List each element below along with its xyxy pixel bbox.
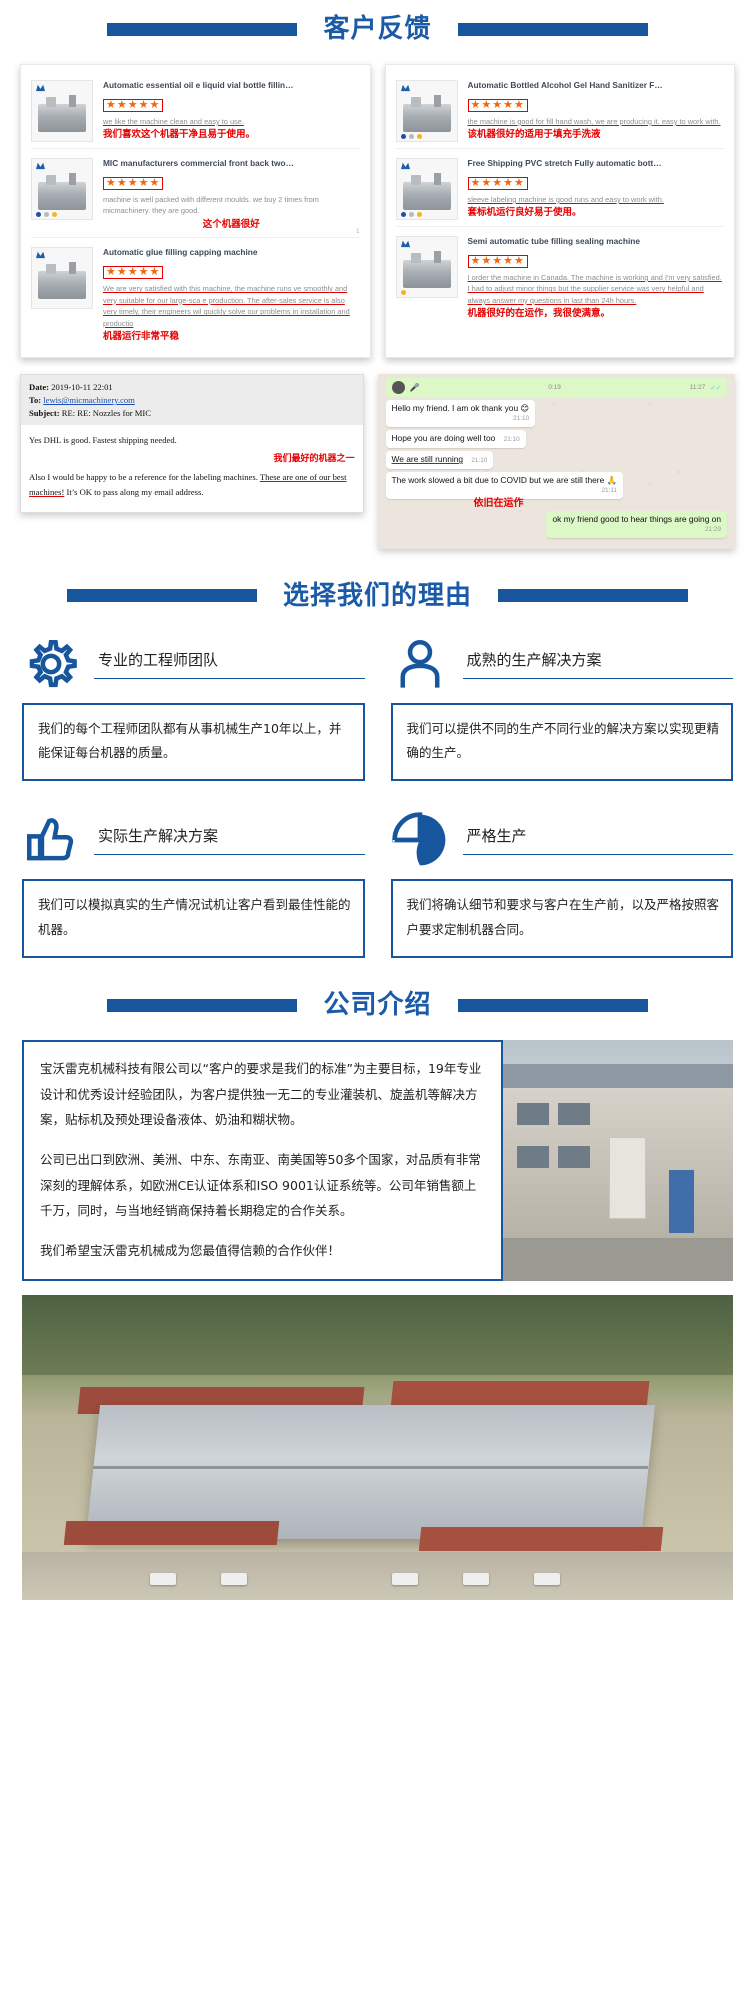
review-page-number[interactable]: 1 bbox=[356, 229, 359, 235]
star-icon: ★★★★★ bbox=[106, 99, 160, 111]
whatsapp-annotation-cn: 依旧在运作 bbox=[386, 494, 728, 509]
reason-body: 我们将确认细节和要求与客户在生产前，以及严格按照客户要求定制机器合同。 bbox=[391, 879, 734, 958]
chat-text: Hello my friend. I am ok thank you 😊 bbox=[392, 403, 530, 413]
review-body: MIC manufacturers commercial front back … bbox=[103, 158, 360, 231]
review-column-left: Automatic essential oil e liquid vial bo… bbox=[20, 64, 371, 358]
review-text-cn: 套标机运行良好易于使用。 bbox=[468, 207, 725, 219]
color-swatches bbox=[401, 134, 422, 139]
review-item: MIC manufacturers commercial front back … bbox=[31, 149, 360, 238]
aerial-factory-photo bbox=[22, 1295, 733, 1600]
machine-illustration bbox=[403, 182, 451, 210]
avatar bbox=[392, 381, 405, 394]
whatsapp-message-row: We are still running 21:10 bbox=[386, 451, 728, 469]
gear-icon bbox=[22, 635, 80, 693]
brand-logo-icon bbox=[400, 161, 411, 170]
page-title-reasons: 选择我们的理由 bbox=[257, 583, 498, 609]
reason-card-engineering-team: 专业的工程师团队 我们的每个工程师团队都有从事机械生产10年以上，并能保证每台机… bbox=[22, 635, 365, 782]
review-body: Automatic Bottled Alcohol Gel Hand Sanit… bbox=[468, 80, 725, 142]
section-header-company: 公司介绍 bbox=[0, 966, 755, 1018]
review-text-cn: 我们喜欢这个机器干净且易于使用。 bbox=[103, 129, 360, 141]
color-swatches bbox=[401, 212, 422, 217]
email-date-label: Date: bbox=[29, 382, 49, 392]
email-line-2a: Also I would be happy to be a reference … bbox=[29, 472, 260, 482]
product-thumbnail bbox=[396, 80, 458, 142]
read-receipt-icon: ✓✓ bbox=[710, 384, 721, 392]
email-line-2: Also I would be happy to be a reference … bbox=[29, 470, 355, 500]
rating-stars: ★★★★★ bbox=[103, 177, 163, 190]
company-paragraph: 公司已出口到欧洲、美洲、中东、东南亚、南美国等50多个国家，对品质有非常深刻的理… bbox=[40, 1147, 485, 1224]
reviews-area: Automatic essential oil e liquid vial bo… bbox=[0, 42, 755, 358]
review-item: Free Shipping PVC stretch Fully automati… bbox=[396, 149, 725, 227]
machine-illustration bbox=[38, 104, 86, 132]
review-text-cn: 这个机器很好 bbox=[103, 219, 360, 231]
product-thumbnail bbox=[396, 236, 458, 298]
machine-illustration bbox=[403, 260, 451, 288]
photo-parking-lot bbox=[22, 1552, 733, 1601]
header-bar-right bbox=[458, 999, 648, 1012]
reason-title: 专业的工程师团队 bbox=[94, 649, 365, 679]
header-bar-right bbox=[498, 589, 688, 602]
voice-message-bubble[interactable]: 🎤 0:19 11:27 ✓✓ bbox=[386, 378, 728, 397]
photo-window bbox=[517, 1146, 549, 1168]
photo-car bbox=[463, 1573, 489, 1585]
company-intro: 宝沃雷克机械科技有限公司以“客户的要求是我们的标准”为主要目标，19年专业设计和… bbox=[0, 1018, 755, 1281]
product-thumbnail bbox=[31, 247, 93, 309]
review-item: Automatic essential oil e liquid vial bo… bbox=[31, 71, 360, 149]
brand-logo-icon bbox=[35, 83, 46, 92]
review-text-en: We are very satisfied with this machine,… bbox=[103, 283, 360, 329]
header-bar-right bbox=[458, 23, 648, 36]
email-line-2c: It’s OK to pass along my email address. bbox=[64, 487, 203, 497]
header-bar-left bbox=[67, 589, 257, 602]
factory-photo bbox=[503, 1040, 733, 1281]
chat-bubble-outgoing: ok my friend good to hear things are goi… bbox=[546, 511, 727, 538]
email-subject-value: RE: RE: Nozzles for MIC bbox=[62, 408, 151, 418]
page-title-company: 公司介绍 bbox=[297, 992, 457, 1018]
email-line-1: Yes DHL is good. Fastest shipping needed… bbox=[29, 433, 355, 448]
brand-logo-icon bbox=[400, 239, 411, 248]
reason-title: 实际生产解决方案 bbox=[94, 825, 365, 855]
photo-car bbox=[221, 1573, 247, 1585]
photo-equipment bbox=[609, 1137, 646, 1219]
chat-time: 21:10 bbox=[398, 415, 530, 424]
reason-heading: 严格生产 bbox=[391, 811, 734, 869]
email-to-row: To: lewis@micmachinery.com bbox=[29, 394, 355, 407]
photo-car bbox=[392, 1573, 418, 1585]
star-icon: ★★★★★ bbox=[106, 266, 160, 278]
star-icon: ★★★★★ bbox=[471, 99, 525, 111]
chat-time: 21:29 bbox=[558, 526, 721, 535]
header-bar-left bbox=[107, 999, 297, 1012]
email-date-value: 2019-10-11 22:01 bbox=[51, 382, 113, 392]
review-product-title[interactable]: Semi automatic tube filling sealing mach… bbox=[468, 237, 725, 247]
company-top-row: 宝沃雷克机械科技有限公司以“客户的要求是我们的标准”为主要目标，19年专业设计和… bbox=[22, 1040, 733, 1281]
product-detail-page: 客户反馈 Automatic essential oil e liquid vi… bbox=[0, 0, 755, 1600]
rating-stars: ★★★★★ bbox=[103, 99, 163, 112]
reason-body: 我们可以模拟真实的生产情况试机让客户看到最佳性能的机器。 bbox=[22, 879, 365, 958]
reason-card-real-production: 实际生产解决方案 我们可以模拟真实的生产情况试机让客户看到最佳性能的机器。 bbox=[22, 811, 365, 958]
whatsapp-message-row: Hello my friend. I am ok thank you 😊 21:… bbox=[386, 400, 728, 427]
review-text-en: machine is well packed with different mo… bbox=[103, 194, 360, 217]
product-thumbnail bbox=[31, 158, 93, 220]
product-thumbnail bbox=[396, 158, 458, 220]
voice-time: 11:27 bbox=[690, 384, 706, 391]
photo-car bbox=[150, 1573, 176, 1585]
chat-bubble-incoming: We are still running 21:10 bbox=[386, 451, 494, 469]
star-icon: ★★★★★ bbox=[471, 177, 525, 189]
review-text-en: we like the machine clean and easy to us… bbox=[103, 116, 360, 127]
review-product-title[interactable]: MIC manufacturers commercial front back … bbox=[103, 159, 360, 169]
chat-text: ok my friend good to hear things are goi… bbox=[552, 514, 721, 524]
review-product-title[interactable]: Automatic Bottled Alcohol Gel Hand Sanit… bbox=[468, 81, 725, 91]
whatsapp-screenshot: 🎤 0:19 11:27 ✓✓ Hello my friend. I am ok… bbox=[378, 374, 736, 548]
reason-body: 我们的每个工程师团队都有从事机械生产10年以上，并能保证每台机器的质量。 bbox=[22, 703, 365, 782]
voice-duration: 0:19 bbox=[424, 384, 684, 391]
email-date-row: Date: 2019-10-11 22:01 bbox=[29, 381, 355, 394]
reason-heading: 专业的工程师团队 bbox=[22, 635, 365, 693]
reason-heading: 实际生产解决方案 bbox=[22, 811, 365, 869]
review-product-title[interactable]: Automatic glue filling capping machine bbox=[103, 248, 360, 258]
photo-roof bbox=[503, 1064, 733, 1088]
review-text-cn: 机器运行非常平稳 bbox=[103, 331, 360, 343]
review-product-title[interactable]: Automatic essential oil e liquid vial bo… bbox=[103, 81, 360, 91]
email-screenshot: Date: 2019-10-11 22:01 To: lewis@micmach… bbox=[20, 374, 364, 513]
photo-red-roof bbox=[63, 1521, 279, 1545]
machine-illustration bbox=[38, 271, 86, 299]
chat-bubble-incoming: Hope you are doing well too 21:10 bbox=[386, 430, 526, 448]
review-text-en: sleeve labeling machine is good runs and… bbox=[468, 194, 725, 205]
photo-ground bbox=[503, 1238, 733, 1281]
thumbs-up-icon bbox=[22, 811, 80, 869]
review-item: Automatic glue filling capping machine ★… bbox=[31, 238, 360, 349]
photo-window bbox=[558, 1146, 590, 1168]
review-item: Semi automatic tube filling sealing mach… bbox=[396, 227, 725, 327]
chat-time: 21:10 bbox=[504, 436, 520, 443]
header-bar-left bbox=[107, 23, 297, 36]
reason-card-strict-production: 严格生产 我们将确认细节和要求与客户在生产前，以及严格按照客户要求定制机器合同。 bbox=[391, 811, 734, 958]
reason-title: 严格生产 bbox=[463, 825, 734, 855]
company-paragraph: 我们希望宝沃雷克机械成为您最值得信赖的合作伙伴！ bbox=[40, 1238, 485, 1264]
machine-illustration bbox=[38, 182, 86, 210]
brand-logo-icon bbox=[35, 161, 46, 170]
review-body: Free Shipping PVC stretch Fully automati… bbox=[468, 158, 725, 220]
chat-time: 21:10 bbox=[471, 457, 487, 464]
rating-stars: ★★★★★ bbox=[103, 266, 163, 279]
brand-logo-icon bbox=[400, 83, 411, 92]
photo-door bbox=[669, 1170, 694, 1233]
page-title-feedback: 客户反馈 bbox=[297, 16, 457, 42]
review-text-en: I order the machine in Canada. The machi… bbox=[468, 272, 725, 306]
email-header: Date: 2019-10-11 22:01 To: lewis@micmach… bbox=[21, 375, 363, 425]
whatsapp-voice-row: 🎤 0:19 11:27 ✓✓ bbox=[386, 378, 728, 397]
chat-text: The work slowed a bit due to COVID but w… bbox=[392, 475, 617, 485]
proof-area: Date: 2019-10-11 22:01 To: lewis@micmach… bbox=[0, 358, 755, 548]
review-product-title[interactable]: Free Shipping PVC stretch Fully automati… bbox=[468, 159, 725, 169]
review-text-cn: 机器很好的在运作，我很使满意。 bbox=[468, 308, 725, 320]
color-swatches bbox=[401, 290, 406, 295]
chat-bubble-incoming: Hello my friend. I am ok thank you 😊 21:… bbox=[386, 400, 536, 427]
review-text-cn: 该机器很好的适用于填充手洗液 bbox=[468, 129, 725, 141]
photo-window bbox=[517, 1103, 549, 1125]
email-body: Yes DHL is good. Fastest shipping needed… bbox=[21, 425, 363, 512]
rating-stars: ★★★★★ bbox=[468, 255, 528, 268]
person-icon bbox=[391, 635, 449, 693]
microphone-icon: 🎤 bbox=[410, 383, 420, 392]
reason-title: 成熟的生产解决方案 bbox=[463, 649, 734, 679]
star-icon: ★★★★★ bbox=[106, 177, 160, 189]
rating-stars: ★★★★★ bbox=[468, 99, 528, 112]
color-swatches bbox=[36, 212, 57, 217]
star-icon: ★★★★★ bbox=[471, 255, 525, 267]
reasons-grid: 专业的工程师团队 我们的每个工程师团队都有从事机械生产10年以上，并能保证每台机… bbox=[0, 609, 755, 967]
reason-body: 我们可以提供不同的生产不同行业的解决方案以实现更精确的生产。 bbox=[391, 703, 734, 782]
photo-hillside bbox=[22, 1295, 733, 1374]
chat-text: We are still running bbox=[392, 454, 464, 464]
email-annotation-cn: 我们最好的机器之一 bbox=[29, 452, 355, 468]
product-thumbnail bbox=[31, 80, 93, 142]
machine-illustration bbox=[403, 104, 451, 132]
email-subject-label: Subject: bbox=[29, 408, 60, 418]
photo-red-roof bbox=[419, 1527, 663, 1551]
review-item: Automatic Bottled Alcohol Gel Hand Sanit… bbox=[396, 71, 725, 149]
review-body: Semi automatic tube filling sealing mach… bbox=[468, 236, 725, 321]
review-column-right: Automatic Bottled Alcohol Gel Hand Sanit… bbox=[385, 64, 736, 358]
email-subject-row: Subject: RE: RE: Nozzles for MIC bbox=[29, 407, 355, 420]
email-to-address[interactable]: lewis@micmachinery.com bbox=[43, 395, 135, 405]
email-to-label: To: bbox=[29, 395, 41, 405]
rating-stars: ★★★★★ bbox=[468, 177, 528, 190]
whatsapp-message-row: Hope you are doing well too 21:10 bbox=[386, 430, 728, 448]
review-text-en: the machine is good for fill hand wash, … bbox=[468, 116, 725, 127]
photo-car bbox=[534, 1573, 560, 1585]
company-paragraph: 宝沃雷克机械科技有限公司以“客户的要求是我们的标准”为主要目标，19年专业设计和… bbox=[40, 1056, 485, 1133]
company-description: 宝沃雷克机械科技有限公司以“客户的要求是我们的标准”为主要目标，19年专业设计和… bbox=[22, 1040, 503, 1281]
reason-heading: 成熟的生产解决方案 bbox=[391, 635, 734, 693]
reason-card-production-solutions: 成熟的生产解决方案 我们可以提供不同的生产不同行业的解决方案以实现更精确的生产。 bbox=[391, 635, 734, 782]
whatsapp-message-row: ok my friend good to hear things are goi… bbox=[386, 511, 728, 538]
pie-chart-icon bbox=[391, 811, 449, 869]
brand-logo-icon bbox=[35, 250, 46, 259]
review-body: Automatic essential oil e liquid vial bo… bbox=[103, 80, 360, 142]
review-body: Automatic glue filling capping machine ★… bbox=[103, 247, 360, 343]
section-header-feedback: 客户反馈 bbox=[0, 0, 755, 42]
chat-text: Hope you are doing well too bbox=[392, 433, 496, 443]
photo-main-roof bbox=[86, 1405, 655, 1539]
section-header-reasons: 选择我们的理由 bbox=[0, 549, 755, 609]
photo-window bbox=[558, 1103, 590, 1125]
photo-roof-ridge bbox=[93, 1466, 648, 1469]
